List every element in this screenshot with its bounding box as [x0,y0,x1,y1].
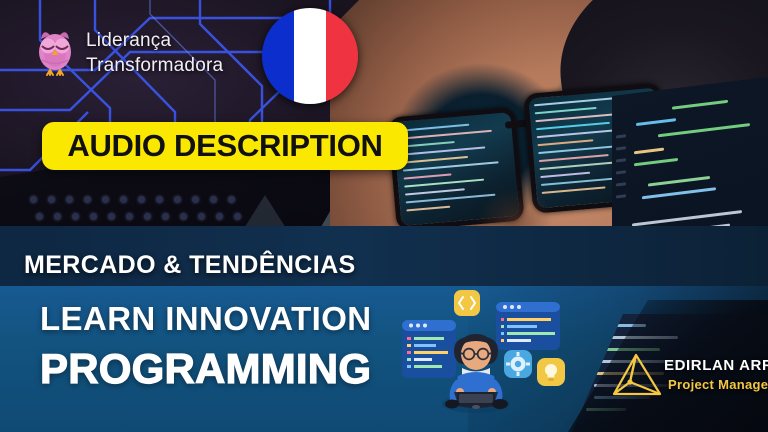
kicker-text: MERCADO & TENDÊNCIAS [24,251,356,280]
audio-description-label: AUDIO DESCRIPTION [67,128,382,164]
code-brackets-icon [454,290,480,316]
brand-line-1: Liderança [86,28,276,53]
lightbulb-icon [537,358,565,386]
code-window-card-right [496,302,560,350]
title-line-1: LEARN INNOVATION [40,300,372,338]
developer-with-laptop-illustration [400,288,570,428]
france-flag-icon [262,8,358,104]
brand-line-2: Transformadora [86,53,276,78]
youtube-thumbnail: Liderança Transformadora AUDIO DESCRIPTI… [0,0,768,432]
signature-name: EDIRLAN ARRAIS [664,357,768,374]
brand-name: Liderança Transformadora [86,28,276,78]
gear-icon [504,350,532,378]
tetrahedron-logo-icon [608,350,664,406]
signature-role: Project Manager [668,377,768,392]
code-window-card-left [402,320,456,378]
owl-icon [30,22,80,78]
title-line-2: PROGRAMMING [40,345,371,393]
audio-description-badge: AUDIO DESCRIPTION [42,122,408,170]
